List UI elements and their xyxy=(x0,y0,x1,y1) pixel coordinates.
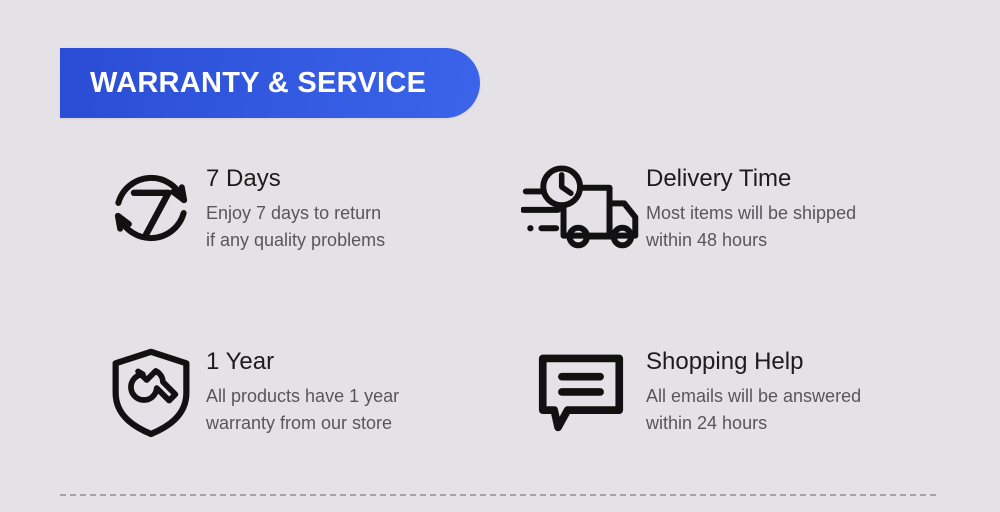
feature-line-1: Enjoy 7 days to return xyxy=(206,200,385,227)
feature-title: Delivery Time xyxy=(646,166,856,193)
section-banner: WARRANTY & SERVICE xyxy=(60,48,480,118)
feature-line-2: within 24 hours xyxy=(646,410,861,437)
shield-wrench-icon xyxy=(96,343,206,439)
feature-item-shopping-help: Shopping Help All emails will be answere… xyxy=(516,343,936,439)
feature-line-1: All emails will be answered xyxy=(646,383,861,410)
return-arrows-7-icon xyxy=(96,160,206,256)
feature-title: 7 Days xyxy=(206,166,385,193)
feature-item-1-year: 1 Year All products have 1 year warranty… xyxy=(96,343,496,439)
feature-text: Shopping Help All emails will be answere… xyxy=(646,343,861,438)
feature-line-1: All products have 1 year xyxy=(206,383,399,410)
feature-title: 1 Year xyxy=(206,349,399,376)
delivery-truck-clock-icon xyxy=(516,160,646,256)
feature-item-delivery-time: Delivery Time Most items will be shipped… xyxy=(516,160,936,256)
feature-text: 1 Year All products have 1 year warranty… xyxy=(206,343,399,438)
feature-line-2: within 48 hours xyxy=(646,227,856,254)
feature-text: Delivery Time Most items will be shipped… xyxy=(646,160,856,255)
feature-line-2: if any quality problems xyxy=(206,227,385,254)
feature-text: 7 Days Enjoy 7 days to return if any qua… xyxy=(206,160,385,255)
feature-line-1: Most items will be shipped xyxy=(646,200,856,227)
feature-item-7-days: 7 Days Enjoy 7 days to return if any qua… xyxy=(96,160,496,256)
feature-line-2: warranty from our store xyxy=(206,410,399,437)
banner-title: WARRANTY & SERVICE xyxy=(60,69,426,98)
chat-bubble-icon xyxy=(516,343,646,439)
features-grid: 7 Days Enjoy 7 days to return if any qua… xyxy=(0,148,1000,478)
feature-title: Shopping Help xyxy=(646,349,861,376)
warranty-service-infographic: WARRANTY & SERVICE 7 D xyxy=(0,0,1000,512)
dashed-divider xyxy=(60,494,936,496)
